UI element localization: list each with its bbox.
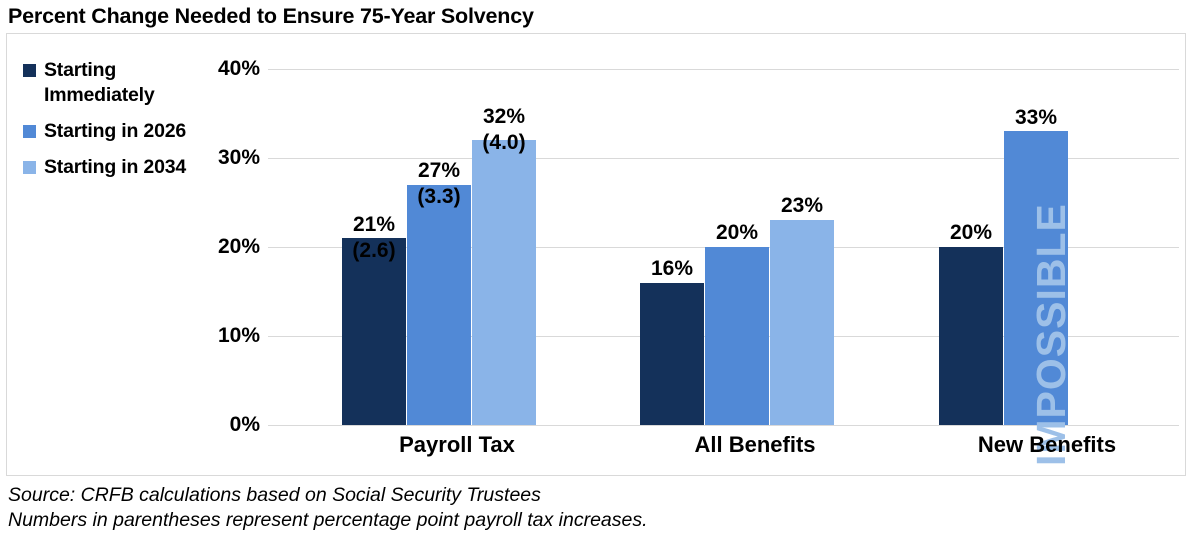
footnote-parentheses: Numbers in parentheses represent percent… [8, 508, 1158, 533]
bar-all-benefits-starting-immediately[interactable] [640, 283, 704, 425]
bar-subvalue-label: (3.3) [397, 185, 481, 209]
impossible-annotation: IMPOSSIBLE [1031, 203, 1072, 466]
x-label-payroll-tax: Payroll Tax [347, 432, 567, 458]
bar-value-label: 32% [462, 105, 546, 129]
bar-subvalue-label: (4.0) [462, 131, 546, 155]
bar-value-label: 21% [332, 213, 416, 237]
bar-value-label: 33% [994, 106, 1078, 130]
bars-layer: 21% (2.6) 27% (3.3) 32% (4.0) 16% 20% 23… [7, 69, 1185, 425]
footnotes: Source: CRFB calculations based on Socia… [8, 483, 1158, 533]
x-label-new-benefits: New Benefits [937, 432, 1157, 458]
bar-all-benefits-starting-2034[interactable] [770, 220, 834, 425]
footnote-source: Source: CRFB calculations based on Socia… [8, 483, 1158, 508]
bar-all-benefits-starting-2026[interactable] [705, 247, 769, 425]
bar-payroll-tax-starting-2026[interactable] [407, 185, 471, 425]
bar-new-benefits-starting-immediately[interactable] [939, 247, 1003, 425]
bar-payroll-tax-starting-immediately[interactable] [342, 238, 406, 425]
bar-value-label: 16% [630, 257, 714, 281]
bar-value-label: 23% [760, 194, 844, 218]
bar-payroll-tax-starting-2034[interactable] [472, 140, 536, 425]
x-label-all-benefits: All Benefits [645, 432, 865, 458]
bar-value-label: 20% [929, 221, 1013, 245]
bar-value-label: 20% [695, 221, 779, 245]
chart-plot-frame: 40% 30% 20% 10% 0% Starting Immediately … [6, 33, 1186, 476]
bar-value-label: 27% [397, 159, 481, 183]
chart-figure: Percent Change Needed to Ensure 75-Year … [0, 0, 1203, 553]
bar-subvalue-label: (2.6) [332, 239, 416, 263]
page-title: Percent Change Needed to Ensure 75-Year … [8, 2, 1108, 30]
